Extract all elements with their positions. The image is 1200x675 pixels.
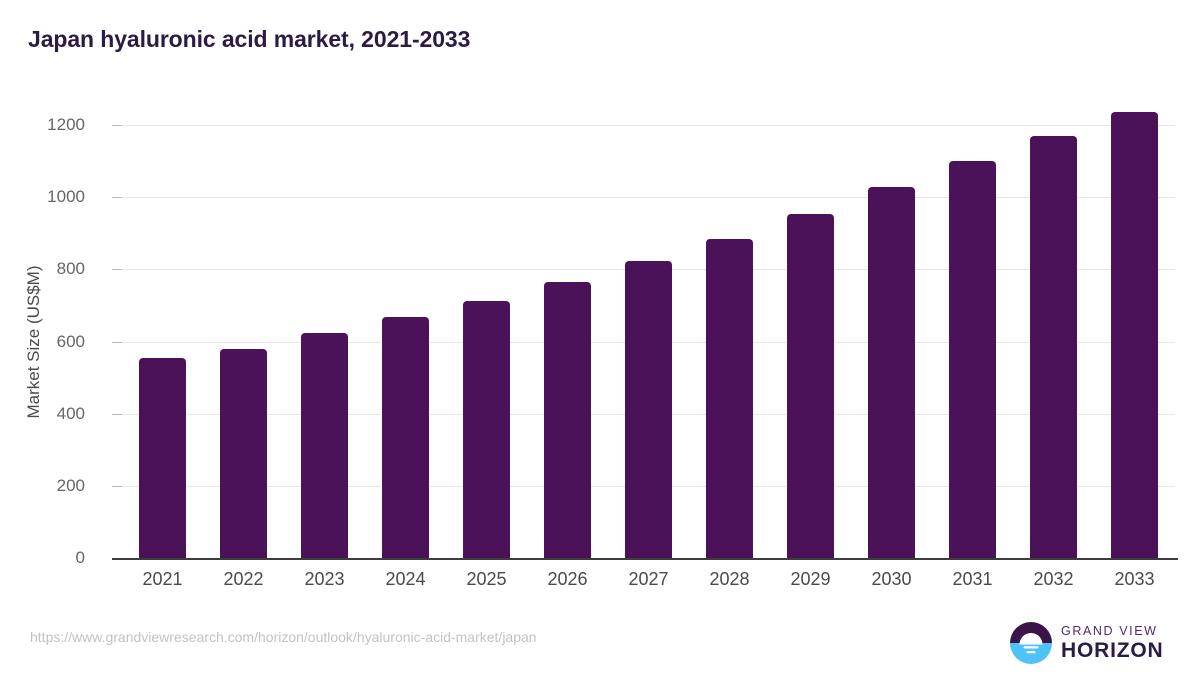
- x-tick-label-2021: 2021: [118, 569, 208, 590]
- bar-2023[interactable]: [301, 333, 348, 558]
- logo-line-grand-view: GRAND VIEW: [1061, 625, 1163, 638]
- y-tick-mark: [112, 269, 122, 270]
- y-tick-mark: [112, 342, 122, 343]
- bar-2022[interactable]: [220, 349, 267, 558]
- x-tick-label-2031: 2031: [928, 569, 1018, 590]
- y-tick-label: 200: [0, 476, 85, 496]
- logo-wordmark: GRAND VIEW HORIZON: [1061, 625, 1163, 662]
- x-tick-label-2030: 2030: [847, 569, 937, 590]
- source-url[interactable]: https://www.grandviewresearch.com/horizo…: [30, 629, 537, 645]
- x-tick-label-2027: 2027: [604, 569, 694, 590]
- bar-2029[interactable]: [787, 214, 834, 558]
- page-title: Japan hyaluronic acid market, 2021-2033: [28, 26, 470, 53]
- y-tick-mark: [112, 125, 122, 126]
- y-tick-mark: [112, 197, 122, 198]
- x-tick-label-2033: 2033: [1090, 569, 1180, 590]
- bar-2026[interactable]: [544, 282, 591, 558]
- gridline: [122, 197, 1175, 198]
- y-tick-mark: [112, 414, 122, 415]
- gridline: [122, 125, 1175, 126]
- x-tick-label-2029: 2029: [766, 569, 856, 590]
- bar-2030[interactable]: [868, 187, 915, 558]
- x-tick-label-2025: 2025: [442, 569, 532, 590]
- bar-2031[interactable]: [949, 161, 996, 558]
- bar-2033[interactable]: [1111, 112, 1158, 558]
- x-tick-label-2023: 2023: [280, 569, 370, 590]
- chart-page: Japan hyaluronic acid market, 2021-2033 …: [0, 0, 1200, 675]
- bar-2027[interactable]: [625, 261, 672, 558]
- y-tick-label: 0: [0, 548, 85, 568]
- x-tick-label-2024: 2024: [361, 569, 451, 590]
- y-tick-label: 1000: [0, 187, 85, 207]
- bar-2021[interactable]: [139, 358, 186, 558]
- horizon-sunrise-icon: [1010, 622, 1052, 664]
- y-tick-label: 400: [0, 404, 85, 424]
- bar-2024[interactable]: [382, 317, 429, 558]
- x-tick-label-2022: 2022: [199, 569, 289, 590]
- y-tick-label: 600: [0, 332, 85, 352]
- x-tick-label-2028: 2028: [685, 569, 775, 590]
- x-tick-label-2026: 2026: [523, 569, 613, 590]
- bar-2025[interactable]: [463, 301, 510, 558]
- logo-line-horizon: HORIZON: [1061, 640, 1163, 661]
- bar-2028[interactable]: [706, 239, 753, 558]
- y-tick-label: 1200: [0, 115, 85, 135]
- brand-logo: GRAND VIEW HORIZON: [1010, 619, 1170, 667]
- y-tick-mark: [112, 486, 122, 487]
- plot-area: 020040060080010001200: [122, 100, 1175, 558]
- bar-2032[interactable]: [1030, 136, 1077, 558]
- x-axis-line: [112, 558, 1178, 560]
- x-tick-label-2032: 2032: [1009, 569, 1099, 590]
- y-tick-label: 800: [0, 259, 85, 279]
